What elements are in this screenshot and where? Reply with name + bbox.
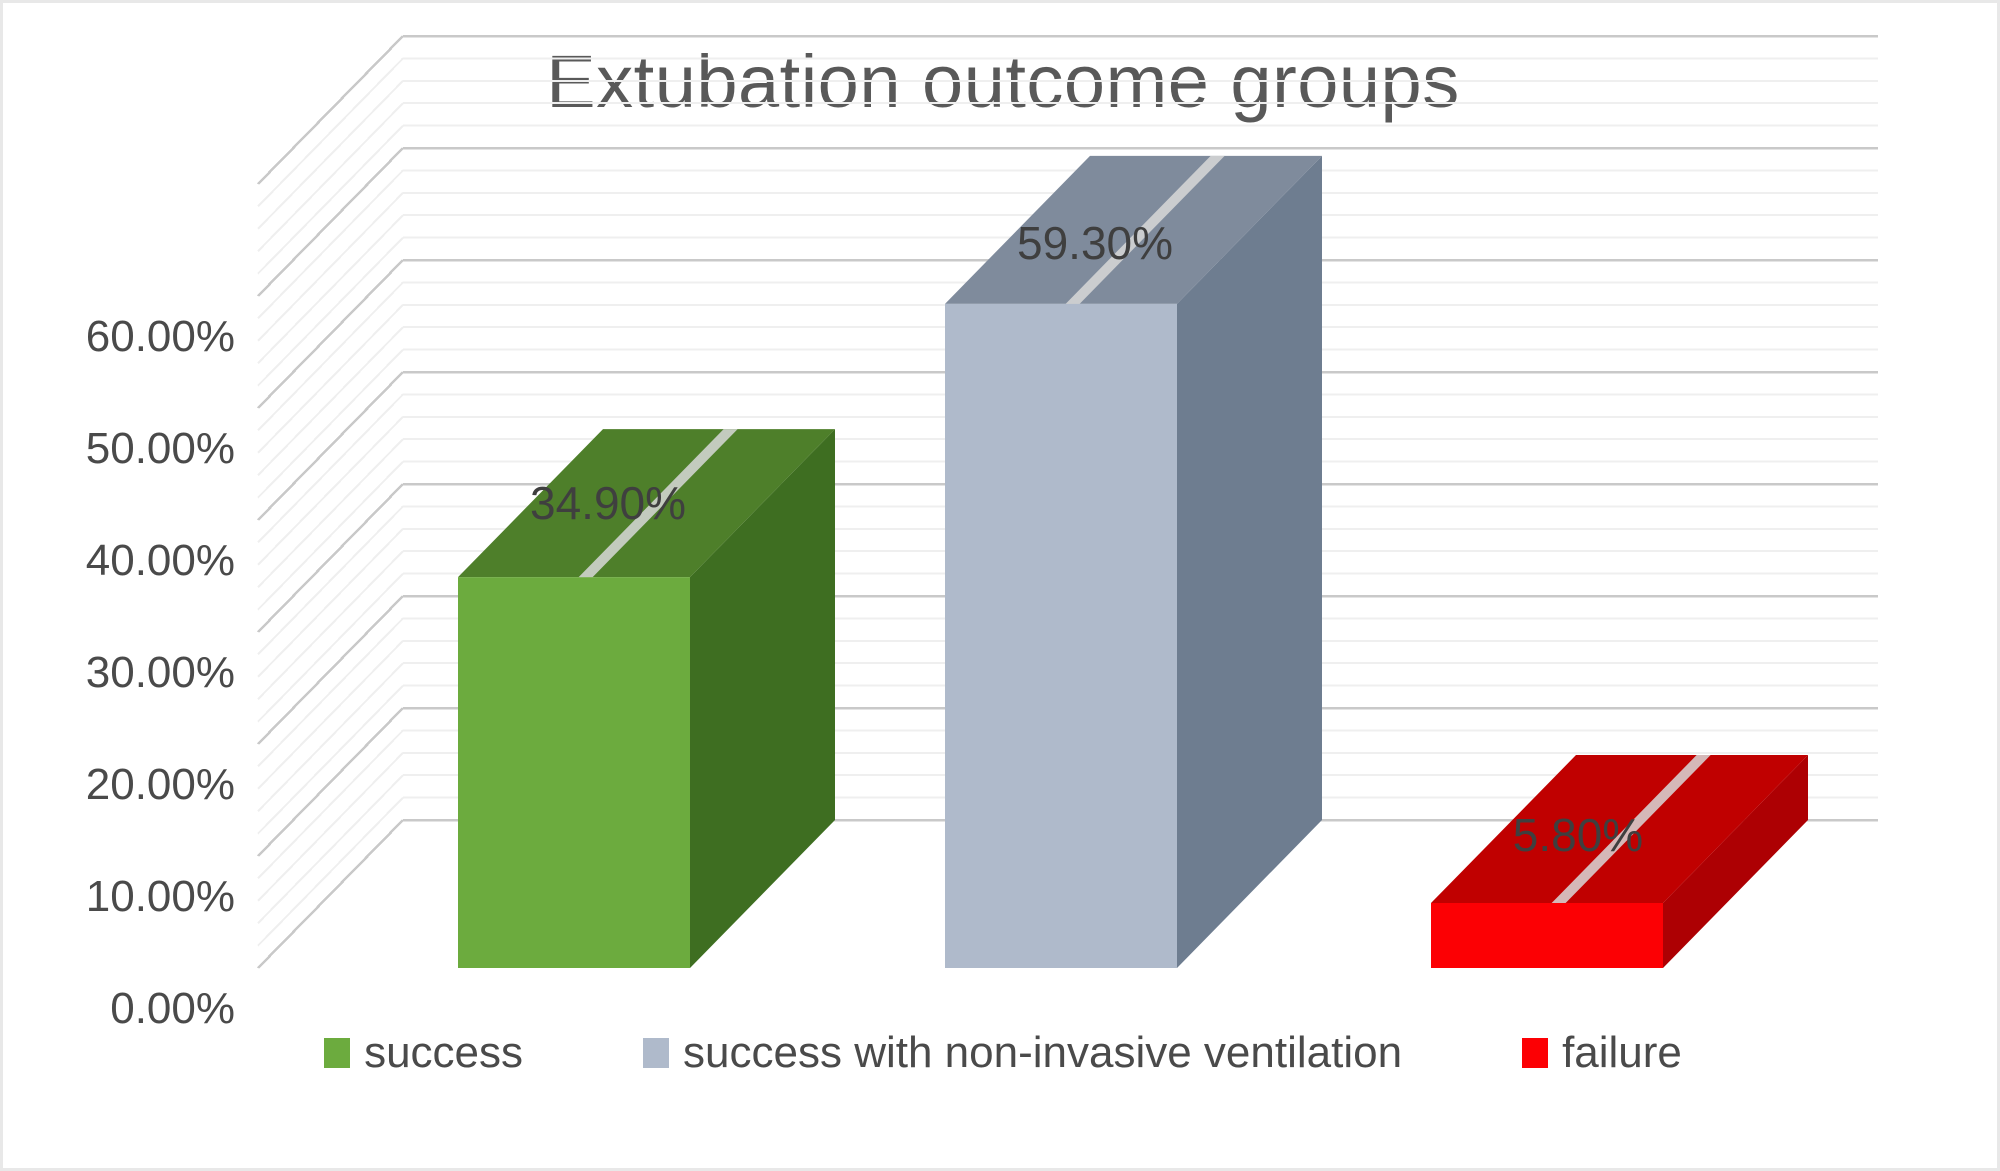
y-tick-label: 50.00% [0,424,235,474]
y-tick-label: 0.00% [0,984,235,1034]
y-tick-label: 10.00% [0,872,235,922]
bar-front-face [458,577,690,968]
bar-front-face [945,304,1177,968]
chart-legend: success success with non-invasive ventil… [3,1031,2000,1075]
legend-item-success-niv[interactable]: success with non-invasive ventilation [643,1031,1402,1075]
legend-label: success [364,1031,523,1075]
y-axis: 60.00% 50.00% 40.00% 30.00% 20.00% 10.00… [3,3,235,1171]
legend-swatch-icon [1522,1038,1548,1068]
plot-area [3,3,2000,1171]
plot-svg [3,3,2000,1171]
legend-label: success with non-invasive ventilation [683,1031,1402,1075]
y-tick-label: 40.00% [0,536,235,586]
bar-success-with-non-invasive-ventilation[interactable] [945,156,1322,968]
legend-item-success[interactable]: success [324,1031,523,1075]
y-tick-label: 20.00% [0,760,235,810]
legend-label: failure [1562,1031,1682,1075]
legend-swatch-icon [643,1038,669,1068]
y-tick-label: 60.00% [0,312,235,362]
legend-swatch-icon [324,1038,350,1068]
legend-item-failure[interactable]: failure [1522,1031,1682,1075]
chart-container: Extubation outcome groups 60.00% 50.00% … [0,0,2000,1171]
data-label-success-niv: 59.30% [1017,216,1173,270]
bar-front-face [1431,903,1663,968]
data-label-success: 34.90% [530,476,686,530]
y-tick-label: 30.00% [0,648,235,698]
data-label-failure: 5.80% [1513,808,1643,862]
